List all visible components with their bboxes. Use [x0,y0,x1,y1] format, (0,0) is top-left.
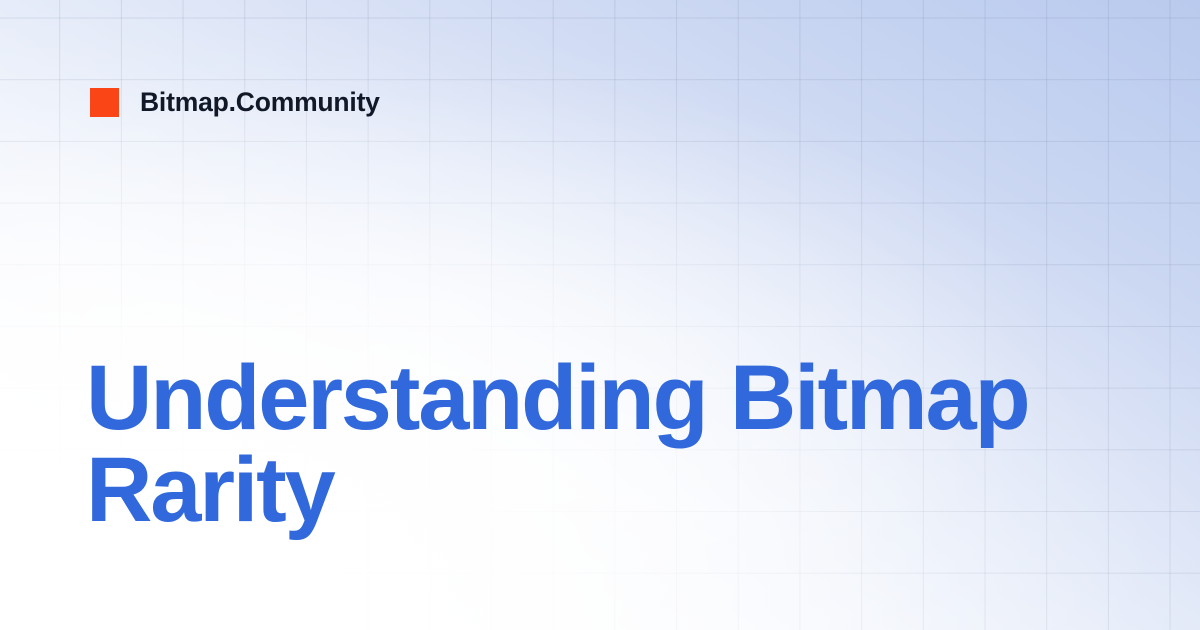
page-title: Understanding Bitmap Rarity [86,352,1116,536]
og-image-canvas: Bitmap.Community Understanding Bitmap Ra… [0,0,1200,630]
brand-name-label: Bitmap.Community [140,89,380,116]
orange-square-icon [90,88,119,117]
brand-lockup[interactable]: Bitmap.Community [90,88,380,117]
content-layer: Bitmap.Community Understanding Bitmap Ra… [0,0,1200,630]
